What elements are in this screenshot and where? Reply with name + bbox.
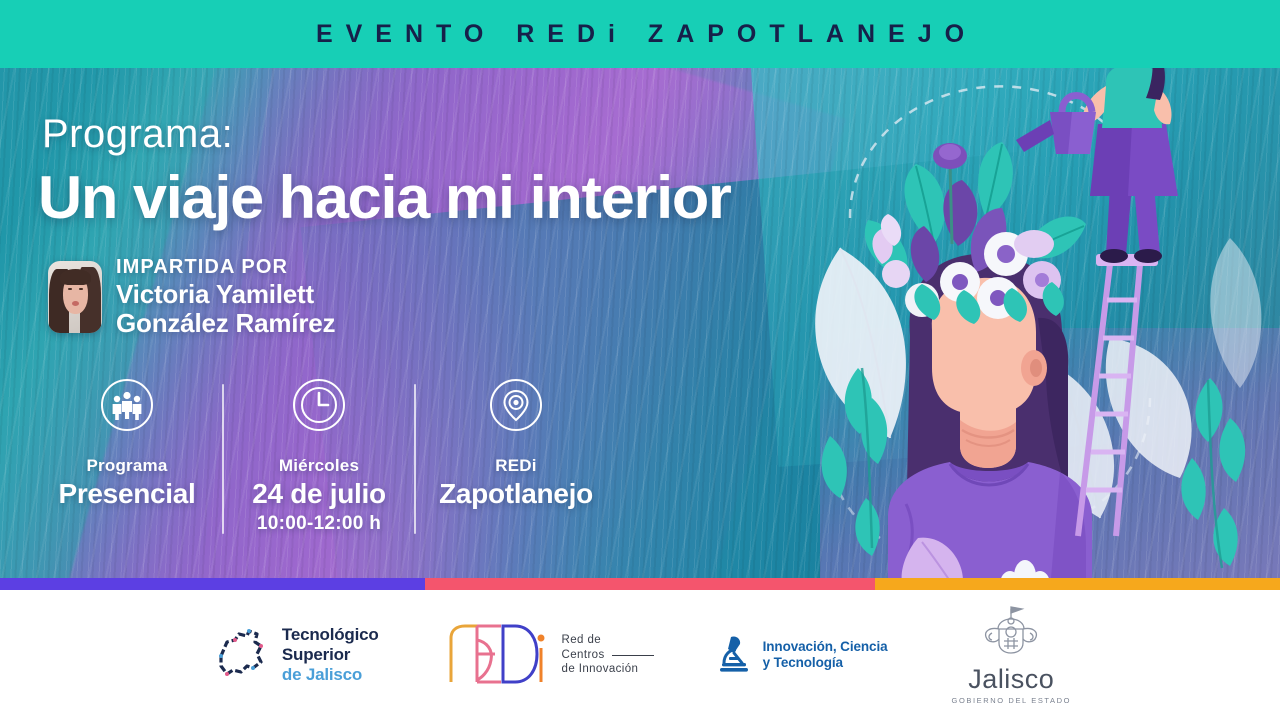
avatar-eye-right bbox=[79, 288, 83, 290]
event-header-title: EVENTO REDi ZAPOTLANEJO bbox=[303, 20, 977, 49]
jalisco-subtitle: GOBIERNO DEL ESTADO bbox=[952, 696, 1072, 705]
redi-rule bbox=[612, 655, 654, 656]
tsj-line3: de Jalisco bbox=[282, 665, 379, 685]
hero-illustration bbox=[810, 68, 1280, 590]
info-date-time: 10:00-12:00 h bbox=[257, 513, 381, 535]
speaker-name-line2: González Ramírez bbox=[116, 309, 335, 337]
ict-line1: Innovación, Ciencia bbox=[763, 639, 888, 655]
redi-line1: Red de bbox=[562, 633, 654, 648]
stripe-segment-orange bbox=[875, 578, 1280, 590]
stripe-segment-pink bbox=[425, 578, 875, 590]
redi-line3: de Innovación bbox=[562, 662, 654, 677]
tsj-line1: Tecnológico bbox=[282, 625, 379, 645]
ict-line2: y Tecnología bbox=[763, 655, 888, 671]
redi-wordmark-icon bbox=[443, 620, 551, 691]
tsj-line2: Superior bbox=[282, 645, 379, 665]
clock-icon bbox=[292, 378, 346, 432]
event-header-bar: EVENTO REDi ZAPOTLANEJO bbox=[0, 0, 1280, 68]
info-divider-2 bbox=[414, 384, 416, 534]
jalisco-coat-of-arms-icon bbox=[980, 605, 1042, 662]
info-location-small: REDi bbox=[495, 456, 536, 476]
tsj-wordmark: Tecnológico Superior de Jalisco bbox=[282, 625, 379, 684]
program-title: Un viaje hacia mi interior bbox=[38, 163, 731, 232]
info-row: Programa Presencial Miércoles 24 de juli… bbox=[42, 378, 606, 535]
info-column-date: Miércoles 24 de julio 10:00-12:00 h bbox=[234, 378, 404, 535]
hero-content: Programa: Un viaje hacia mi interior IMP… bbox=[0, 68, 840, 590]
ict-wordmark: Innovación, Ciencia y Tecnología bbox=[763, 639, 888, 671]
info-date-big: 24 de julio bbox=[252, 478, 386, 510]
avatar-fringe bbox=[60, 269, 91, 285]
info-column-location: REDi Zapotlanejo bbox=[426, 378, 606, 510]
avatar-eye-left bbox=[68, 288, 72, 290]
avatar bbox=[48, 261, 102, 333]
redi-line2: Centros bbox=[562, 648, 605, 663]
microscope-icon bbox=[718, 633, 752, 678]
info-date-small: Miércoles bbox=[279, 456, 359, 476]
jalisco-state-map-icon bbox=[209, 622, 271, 689]
program-kicker: Programa: bbox=[42, 112, 233, 157]
event-poster: EVENTO REDi ZAPOTLANEJO bbox=[0, 0, 1280, 720]
speaker-text: IMPARTIDA POR Victoria Yamilett González… bbox=[116, 256, 335, 337]
info-column-modality: Programa Presencial bbox=[42, 378, 212, 510]
info-modality-big: Presencial bbox=[58, 478, 195, 510]
stripe-segment-purple bbox=[0, 578, 425, 590]
speaker-label: IMPARTIDA POR bbox=[116, 256, 335, 279]
info-divider-1 bbox=[222, 384, 224, 534]
logo-redi: Red de Centros de Innovación bbox=[443, 620, 654, 691]
people-icon bbox=[100, 378, 154, 432]
jalisco-wordmark: Jalisco bbox=[968, 664, 1054, 695]
speaker-name-line1: Victoria Yamilett bbox=[116, 280, 335, 308]
logo-innovacion-ciencia-y-tecnologia: Innovación, Ciencia y Tecnología bbox=[718, 633, 888, 678]
redi-tagline: Red de Centros de Innovación bbox=[562, 633, 654, 678]
hero-stage: Programa: Un viaje hacia mi interior IMP… bbox=[0, 68, 1280, 590]
avatar-mouth bbox=[72, 301, 79, 306]
info-location-big: Zapotlanejo bbox=[439, 478, 593, 510]
redi-line2-wrapper: Centros bbox=[562, 648, 654, 663]
location-pin-icon bbox=[489, 378, 543, 432]
speaker-block: IMPARTIDA POR Victoria Yamilett González… bbox=[48, 256, 335, 337]
logo-tecnologico-superior-de-jalisco: Tecnológico Superior de Jalisco bbox=[209, 622, 379, 689]
footer-logo-strip: Tecnológico Superior de Jalisco bbox=[0, 590, 1280, 720]
color-stripe bbox=[0, 578, 1280, 590]
logo-gobierno-de-jalisco: Jalisco GOBIERNO DEL ESTADO bbox=[952, 605, 1072, 705]
info-modality-small: Programa bbox=[87, 456, 168, 476]
